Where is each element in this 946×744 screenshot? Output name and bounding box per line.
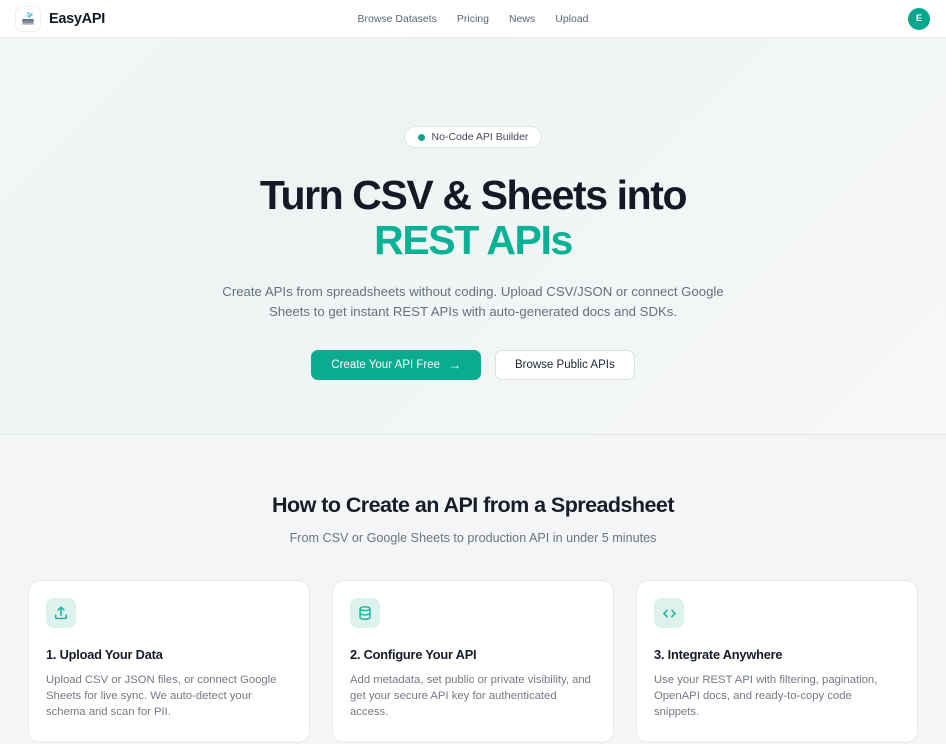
database-icon — [350, 598, 380, 628]
step-card-description: Use your REST API with filtering, pagina… — [654, 672, 900, 720]
upload-icon — [46, 598, 76, 628]
step-card-description: Upload CSV or JSON files, or connect Goo… — [46, 672, 292, 720]
hero-section: No-Code API Builder Turn CSV & Sheets in… — [0, 38, 946, 435]
hero-badge-label: No-Code API Builder — [432, 131, 529, 143]
hero-cta-row: Create Your API Free → Browse Public API… — [311, 350, 634, 380]
user-avatar[interactable]: E — [908, 8, 930, 30]
hero-badge[interactable]: No-Code API Builder — [404, 126, 543, 148]
nav-link-pricing[interactable]: Pricing — [457, 13, 489, 25]
top-navigation-bar: EasyAPI Browse Datasets Pricing News Upl… — [0, 0, 946, 38]
nav-links: Browse Datasets Pricing News Upload — [357, 13, 588, 25]
steps-subtitle: From CSV or Google Sheets to production … — [290, 531, 657, 545]
steps-title: How to Create an API from a Spreadsheet — [272, 493, 674, 518]
arrow-right-icon: → — [449, 359, 461, 371]
step-card-integrate[interactable]: 3. Integrate Anywhere Use your REST API … — [636, 580, 918, 743]
hero-subtitle: Create APIs from spreadsheets without co… — [218, 282, 728, 322]
step-card-description: Add metadata, set public or private visi… — [350, 672, 596, 720]
brand-name: EasyAPI — [49, 11, 105, 27]
hero-title-plain: Turn CSV & Sheets into — [260, 172, 686, 218]
steps-section: How to Create an API from a Spreadsheet … — [0, 435, 946, 743]
browse-public-apis-button[interactable]: Browse Public APIs — [495, 350, 635, 380]
nav-link-news[interactable]: News — [509, 13, 535, 25]
step-card-title: 2. Configure Your API — [350, 647, 596, 662]
nav-link-browse-datasets[interactable]: Browse Datasets — [357, 13, 436, 25]
create-api-button[interactable]: Create Your API Free → — [311, 350, 481, 380]
code-brackets-icon — [654, 598, 684, 628]
step-card-upload[interactable]: 1. Upload Your Data Upload CSV or JSON f… — [28, 580, 310, 743]
easyapi-logo-icon — [16, 7, 40, 31]
status-dot-icon — [418, 134, 425, 141]
page-title: Turn CSV & Sheets into REST APIs — [203, 173, 743, 263]
step-card-title: 3. Integrate Anywhere — [654, 647, 900, 662]
step-card-title: 1. Upload Your Data — [46, 647, 292, 662]
brand-logo-link[interactable]: EasyAPI — [16, 7, 105, 31]
steps-card-row: 1. Upload Your Data Upload CSV or JSON f… — [28, 580, 918, 743]
nav-link-upload[interactable]: Upload — [555, 13, 588, 25]
hero-title-accent: REST APIs — [374, 217, 572, 263]
step-card-configure[interactable]: 2. Configure Your API Add metadata, set … — [332, 580, 614, 743]
create-api-button-label: Create Your API Free — [331, 359, 440, 371]
